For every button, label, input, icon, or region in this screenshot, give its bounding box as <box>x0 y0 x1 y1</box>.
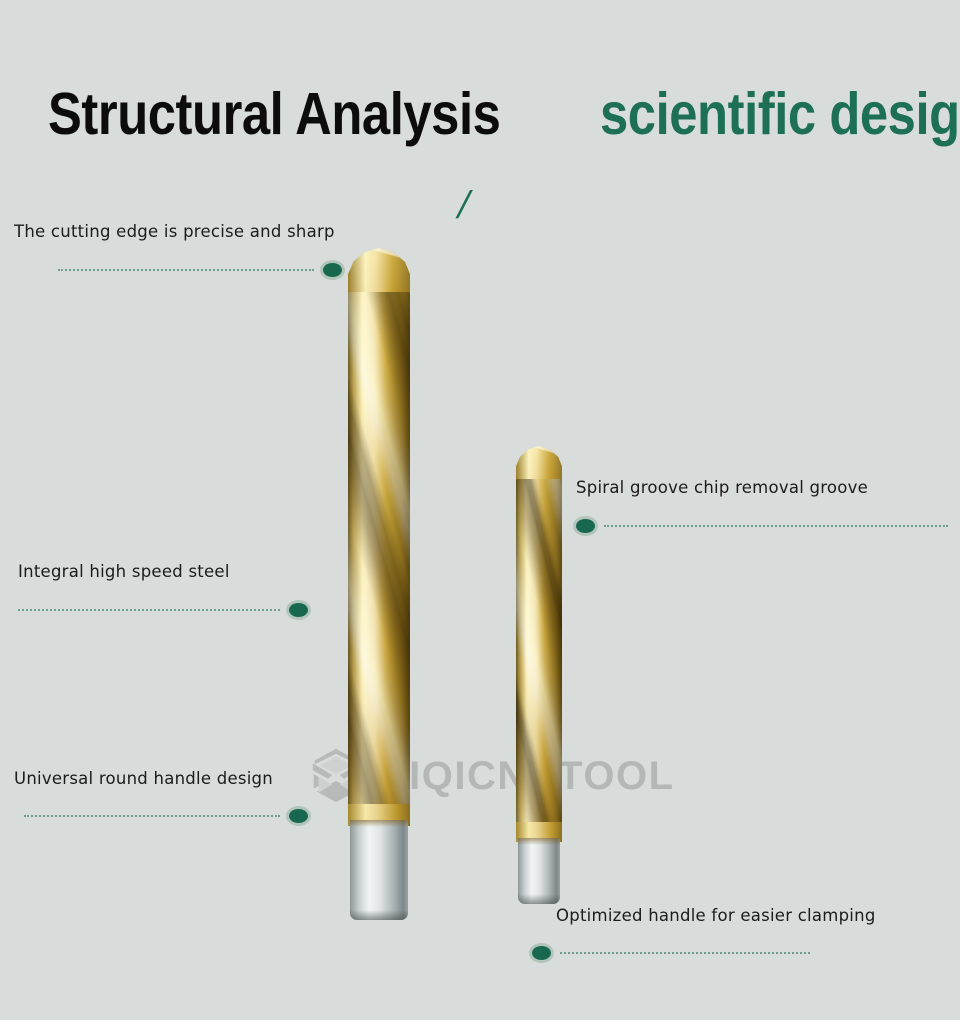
callout-marker-dot <box>576 519 595 533</box>
infographic-canvas: Structural Analysis scientific design / <box>0 0 960 1020</box>
page-title-main: Structural Analysis <box>48 80 500 148</box>
callout-marker-dot <box>532 946 551 960</box>
callout-label-integral-hss: Integral high speed steel <box>18 562 338 581</box>
leader-dots <box>58 269 314 271</box>
leader-dots <box>24 815 280 817</box>
callout-integral-hss: Integral high speed steel <box>18 562 338 617</box>
shank-bottom-shadow <box>350 910 408 920</box>
callout-cutting-edge: The cutting edge is precise and sharp <box>14 222 360 277</box>
leader-dots <box>604 525 948 527</box>
callout-leader-optimized-handle <box>532 946 956 960</box>
page-title: Structural Analysis scientific design <box>48 80 960 148</box>
leader-dots <box>18 609 280 611</box>
callout-label-round-handle: Universal round handle design <box>14 769 340 788</box>
shank-top-edge <box>350 820 408 827</box>
product-image-small-drill-bit <box>514 446 566 904</box>
callout-leader-cutting-edge <box>14 263 360 277</box>
callout-optimized-handle: Optimized handle for easier clamping <box>532 906 956 960</box>
drill-flute-body-large <box>348 292 410 822</box>
callout-round-handle: Universal round handle design <box>14 769 340 823</box>
callout-label-spiral-groove: Spiral groove chip removal groove <box>576 478 956 497</box>
callout-spiral-groove: Spiral groove chip removal groove <box>576 478 956 533</box>
page-title-accent: scientific design <box>600 80 960 148</box>
callout-marker-dot <box>289 809 308 823</box>
callout-marker-dot <box>289 603 308 617</box>
shank-bottom-shadow <box>518 894 560 904</box>
callout-leader-round-handle <box>14 809 340 823</box>
callout-marker-dot <box>323 263 342 277</box>
callout-label-cutting-edge: The cutting edge is precise and sharp <box>14 222 360 241</box>
drill-flute-body-small <box>516 479 562 834</box>
callout-label-optimized-handle: Optimized handle for easier clamping <box>556 906 956 925</box>
drill-shank-large <box>350 820 408 920</box>
drill-shank-small <box>518 838 560 904</box>
product-image-large-drill-bit <box>344 248 414 920</box>
callout-leader-integral-hss <box>18 603 338 617</box>
callout-leader-spiral-groove <box>576 519 956 533</box>
shank-top-edge <box>518 838 560 845</box>
title-separator-slash: / <box>458 181 470 229</box>
leader-dots <box>560 952 810 954</box>
